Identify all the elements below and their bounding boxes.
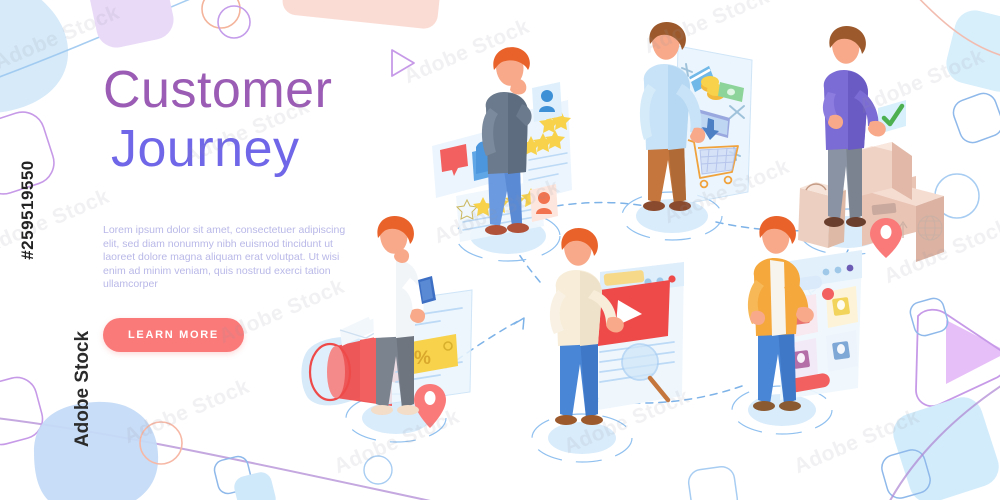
hand-to-chin: [510, 79, 526, 95]
hero-paragraph: Lorem ipsum dolor sit amet, consectetuer…: [103, 224, 353, 292]
stock-id-watermark: #259519550: [18, 130, 38, 290]
user-avatar-icon-coral: [530, 184, 558, 222]
page-title-line-1: Customer: [103, 62, 433, 118]
scene-catalog: [732, 216, 862, 434]
shoe-left: [485, 225, 507, 235]
shoe-right: [507, 223, 529, 233]
shoe-left: [643, 201, 665, 211]
location-pin-icon-delivery: [870, 218, 902, 258]
scene-delivery: [798, 26, 944, 262]
scene-reviews: [432, 47, 572, 261]
shoe-left: [555, 415, 577, 425]
hero-copy-block: Customer Journey Lorem ipsum dolor sit a…: [103, 62, 433, 352]
scene-content-platform: [548, 422, 616, 454]
stock-brand-watermark: Adobe Stock: [72, 314, 94, 464]
hero-illustration-stage: %: [0, 0, 1000, 500]
shirt-panel: [770, 260, 786, 336]
shoe-left: [824, 217, 844, 227]
learn-more-button[interactable]: LEARN MORE: [103, 318, 244, 352]
shoe-right: [581, 415, 603, 425]
product-card-4: [826, 330, 858, 372]
shoe-right: [397, 405, 419, 415]
shoe-right: [846, 217, 866, 227]
scene-payment: [622, 22, 752, 240]
scene-content: [532, 228, 684, 462]
shoe-left: [371, 405, 393, 415]
shoe-right: [779, 401, 801, 411]
shoe-left: [753, 401, 775, 411]
user-avatar-icon-blue: [532, 82, 562, 122]
shoe-right: [669, 201, 691, 211]
page-title-line-2: Journey: [111, 120, 433, 178]
cart-grid: [700, 148, 736, 174]
